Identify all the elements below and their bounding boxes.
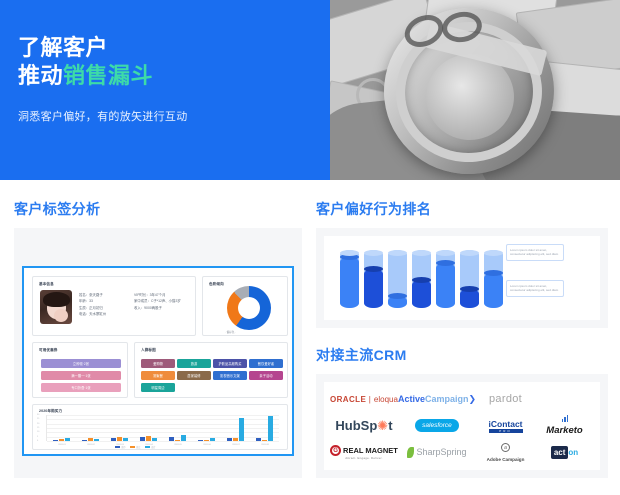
chart-bar xyxy=(256,438,261,441)
chart-y-tick: 10 xyxy=(37,431,39,433)
section-title-crm: 对接主流CRM xyxy=(316,345,407,365)
chart-bar xyxy=(123,438,128,441)
ranking-cylinder[interactable] xyxy=(436,250,455,308)
cylinder-top-cap xyxy=(484,250,503,256)
legend-swatch xyxy=(145,446,150,449)
cylinder-fill xyxy=(484,273,503,308)
chart-bar-group: 2020.06 xyxy=(194,415,220,441)
cylinder-fill xyxy=(412,280,431,308)
portrait-card: 人群标图 爱购物旅游护肤品高频购买餐饮爱好者常聚餐居家装修影视音乐文娱亲子活动明… xyxy=(134,342,288,398)
ranking-cylinder[interactable] xyxy=(364,250,383,308)
logo-marketo[interactable]: Marketo xyxy=(546,415,582,436)
chart-plot-area: 2020.012020.022020.032020.042020.052020.… xyxy=(49,415,281,441)
chart-x-label: 2020.02 xyxy=(78,444,104,446)
chart-title: 2020年购买力 xyxy=(39,409,62,414)
chart-gridline xyxy=(47,441,279,442)
chart-bar-group: 2020.01 xyxy=(49,415,75,441)
ranking-tooltip: Lorem ipsum dolor sit amet, consectetur … xyxy=(506,244,564,261)
cylinder-fill xyxy=(460,289,479,308)
magnet-icon: G xyxy=(330,445,341,456)
cylinder-fill xyxy=(364,269,383,308)
coupon-title: 可用优惠券 xyxy=(39,348,57,353)
chart-bar xyxy=(262,440,267,441)
ranking-cylinder[interactable] xyxy=(412,250,431,308)
coupon-tag[interactable]: 满一赠一·1张 xyxy=(41,371,121,380)
landing-page: 了解客户 推动销售漏斗 洞悉客户偏好，有的放矢进行互动 客户标签分析 客户偏好行… xyxy=(0,0,620,495)
legend-label: 线下 xyxy=(122,445,126,449)
leaf-icon xyxy=(407,447,414,458)
portrait-tag[interactable]: 爱购物 xyxy=(141,359,175,368)
chart-legend-item: 线下 xyxy=(115,445,126,449)
chart-x-label: 2020.07 xyxy=(223,444,249,446)
chart-bar xyxy=(111,438,116,441)
chart-x-label: 2020.08 xyxy=(252,444,278,446)
legend-label: 总计 xyxy=(151,445,155,449)
coupon-tag[interactable]: 专口折叠·1张 xyxy=(41,383,121,392)
coupon-tag[interactable]: 立即领·2张 xyxy=(41,359,121,368)
chart-bar xyxy=(146,436,151,441)
chart-x-label: 2020.01 xyxy=(49,444,75,446)
chart-bar xyxy=(169,437,174,441)
marketo-bars-icon xyxy=(562,415,569,422)
logo-hubspot[interactable]: HubSp✺t xyxy=(335,418,392,434)
logo-oracle-eloqua[interactable]: ORACLE | eloqua xyxy=(330,394,398,404)
donut-chart xyxy=(227,286,271,330)
portrait-tag[interactable]: 餐饮爱好者 xyxy=(249,359,283,368)
legend-swatch xyxy=(130,446,135,449)
chart-bar-group: 2020.07 xyxy=(223,415,249,441)
chart-y-tick: 20 xyxy=(37,423,39,425)
ranking-tooltip: Lorem ipsum dolor sit amet, consectetur … xyxy=(506,280,564,297)
chart-y-tick: 30 xyxy=(37,414,39,416)
logo-act-on[interactable]: acton xyxy=(551,448,578,457)
logo-pardot[interactable]: pardot xyxy=(489,393,522,405)
chart-bar xyxy=(210,438,215,441)
chart-bar xyxy=(268,416,273,441)
chart-legend-item: 线上 xyxy=(130,445,141,449)
adobe-icon: a xyxy=(501,443,510,452)
basic-info-left-column: 姓名：张天路子 年龄：33 生辰：正月初归 电话：天水寥缸州 xyxy=(79,292,106,317)
cylinder-top-cap xyxy=(340,250,359,256)
chart-bar xyxy=(117,437,122,441)
chart-bar xyxy=(65,438,70,441)
chart-x-label: 2020.05 xyxy=(165,444,191,446)
chart-bar xyxy=(152,438,157,441)
chart-bar xyxy=(198,440,203,441)
chart-bar xyxy=(175,440,180,441)
portrait-title: 人群标图 xyxy=(141,348,156,353)
basic-info-title: 基本信息 xyxy=(39,282,54,287)
portrait-tag[interactable]: 明星周边 xyxy=(141,383,175,392)
ranking-cylinder[interactable] xyxy=(484,250,503,308)
chart-bar xyxy=(227,438,232,441)
ranking-cylinder[interactable] xyxy=(388,250,407,308)
chart-bar xyxy=(204,440,209,441)
banknote-photo xyxy=(330,0,620,180)
logo-icontact[interactable]: iContact PRO xyxy=(489,419,523,433)
color-preference-card: 色彩倾向 · 偏好色 · xyxy=(202,276,288,336)
logo-activecampaign[interactable]: ActiveCampaign❯ xyxy=(398,394,476,405)
chart-bar-group: 2020.03 xyxy=(107,415,133,441)
cylinder-top-cap xyxy=(388,250,407,256)
coupon-card: 可用优惠券 立即领·2张满一赠一·1张专口折叠·1张 xyxy=(32,342,128,398)
chart-bar-group: 2020.08 xyxy=(252,415,278,441)
chart-bar xyxy=(82,440,87,441)
purchasing-power-chart-card: 2020年购买力 302520151050 2020.012020.022020… xyxy=(32,404,288,450)
chart-y-tick: 5 xyxy=(37,436,38,438)
logo-adobe-campaign[interactable]: aAdobe Campaign xyxy=(487,443,525,463)
avatar-hand xyxy=(54,309,68,322)
chart-bar xyxy=(140,437,145,441)
cylinder-fill xyxy=(340,257,359,308)
info-row: 家中成员：C子*12声、小猫3岁 xyxy=(134,298,181,304)
cylinder-top-cap xyxy=(460,250,479,256)
cylinder-fill xyxy=(436,263,455,308)
portrait-tag[interactable]: 常聚餐 xyxy=(141,371,175,380)
ranking-cylinder[interactable] xyxy=(340,250,359,308)
chart-bar-group: 2020.02 xyxy=(78,415,104,441)
chart-y-tick: 25 xyxy=(37,418,39,420)
chart-y-tick: 0 xyxy=(37,440,38,442)
cylinder-top-cap xyxy=(436,250,455,256)
customer-avatar xyxy=(40,290,72,324)
portrait-tag[interactable]: 护肤品高频购买 xyxy=(213,359,247,368)
chart-bar xyxy=(88,438,93,441)
hero-banner: 了解客户 推动销售漏斗 洞悉客户偏好，有的放矢进行互动 xyxy=(0,0,620,180)
hero-headline-plain: 推动 xyxy=(18,63,63,88)
section-title-tag-analysis: 客户标签分析 xyxy=(14,199,100,219)
chart-bar xyxy=(53,440,58,441)
portrait-tag[interactable]: 亲子活动 xyxy=(249,371,283,380)
basic-info-right-column: VIP时长：3年47个月 家中成员：C子*12声、小猫3岁 收入：9000两股子 xyxy=(134,292,181,311)
legend-label: 线上 xyxy=(136,445,140,449)
avatar-hair xyxy=(43,292,70,307)
legend-swatch xyxy=(115,446,120,449)
donut-legend: · 偏好色 · xyxy=(225,330,236,334)
hero-headline-accent: 销售漏斗 xyxy=(63,63,153,88)
hero-headline-line1: 了解客户 xyxy=(18,34,318,62)
portrait-tag[interactable]: 旅游 xyxy=(177,359,211,368)
chart-bar xyxy=(59,439,64,441)
chart-bar xyxy=(233,438,238,441)
cylinder-top-cap xyxy=(364,250,383,256)
logo-salesforce[interactable]: salesforce xyxy=(415,419,459,432)
info-row: 生辰：正月初归 xyxy=(79,305,106,311)
basic-info-card: 基本信息 姓名：张天路子 年龄：33 生辰：正月初归 电话：天水寥缸州 VIP时… xyxy=(32,276,196,336)
chart-bar-group: 2020.05 xyxy=(165,415,191,441)
info-row: 电话：天水寥缸州 xyxy=(79,311,106,317)
hero-subtitle: 洞悉客户偏好，有的放矢进行互动 xyxy=(18,108,318,124)
chart-x-label: 2020.06 xyxy=(194,444,220,446)
chart-bar xyxy=(181,435,186,441)
chart-legend-item: 总计 xyxy=(145,445,156,449)
donut-hole xyxy=(238,297,260,319)
hero-text-block: 了解客户 推动销售漏斗 洞悉客户偏好，有的放矢进行互动 xyxy=(18,34,318,124)
portrait-tag[interactable]: 影视音乐文娱 xyxy=(213,371,247,380)
chart-bar xyxy=(239,418,244,441)
customer-dashboard: 基本信息 姓名：张天路子 年龄：33 生辰：正月初归 电话：天水寥缸州 VIP时… xyxy=(22,266,294,456)
hero-headline-line2: 推动销售漏斗 xyxy=(18,62,318,90)
section-title-preference-ranking: 客户偏好行为排名 xyxy=(316,199,431,219)
chart-legend: 线下线上总计 xyxy=(115,445,156,449)
crm-logo-grid: ORACLE | eloqua ActiveCampaign❯ pardot H… xyxy=(324,382,600,470)
ranking-cylinder[interactable] xyxy=(460,250,479,308)
donut-title: 色彩倾向 xyxy=(209,282,224,287)
chart-bar-group: 2020.04 xyxy=(136,415,162,441)
ranking-chart: Lorem ipsum dolor sit amet, consectetur … xyxy=(324,236,600,320)
chart-bar xyxy=(94,439,99,441)
cylinder-fill-cap xyxy=(436,260,455,266)
logo-sharpspring[interactable]: SharpSpring xyxy=(407,447,466,458)
chart-y-tick: 15 xyxy=(37,427,39,429)
cylinder-fill-cap xyxy=(364,266,383,272)
portrait-tag[interactable]: 居家装修 xyxy=(177,371,211,380)
info-row: 收入：9000两股子 xyxy=(134,305,181,311)
cylinder-top-cap xyxy=(412,250,431,256)
logo-real-magnet[interactable]: GREAL MAGNET Attract. Engage. Deliver. xyxy=(330,445,398,460)
